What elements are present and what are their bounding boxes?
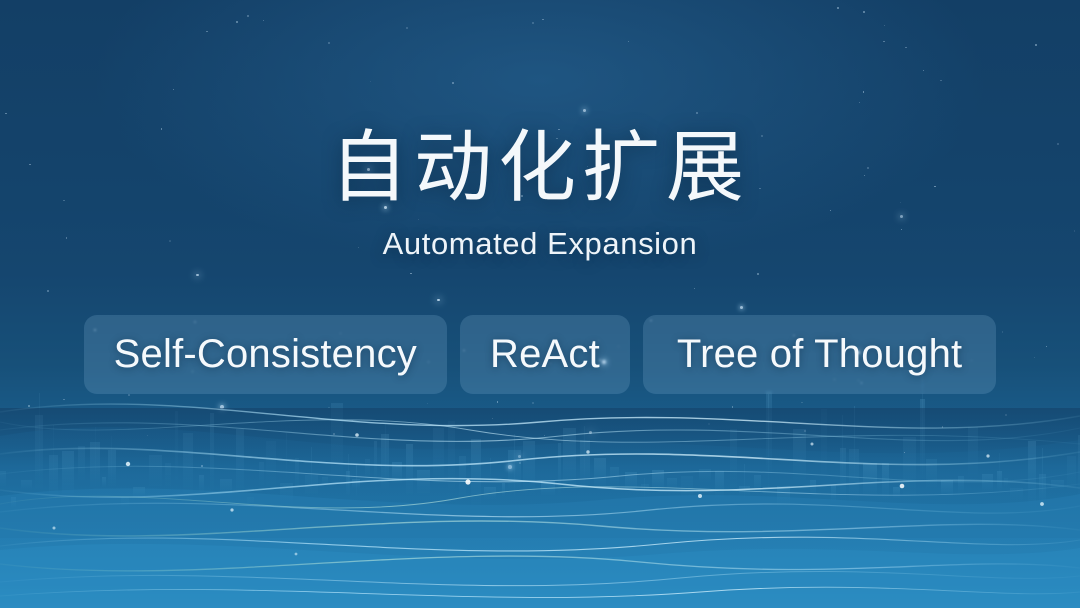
tag-chip-row: Self-Consistency ReAct Tree of Thought bbox=[84, 315, 997, 394]
slide-subtitle: Automated Expansion bbox=[383, 228, 698, 259]
tag-chip-tree-of-thought[interactable]: Tree of Thought bbox=[643, 315, 996, 394]
presentation-slide: 自动化扩展 Automated Expansion Self-Consisten… bbox=[0, 0, 1080, 608]
slide-content: 自动化扩展 Automated Expansion Self-Consisten… bbox=[0, 0, 1080, 608]
tag-chip-self-consistency[interactable]: Self-Consistency bbox=[84, 315, 447, 394]
tag-chip-react[interactable]: ReAct bbox=[460, 315, 630, 394]
slide-title: 自动化扩展 bbox=[330, 128, 750, 206]
